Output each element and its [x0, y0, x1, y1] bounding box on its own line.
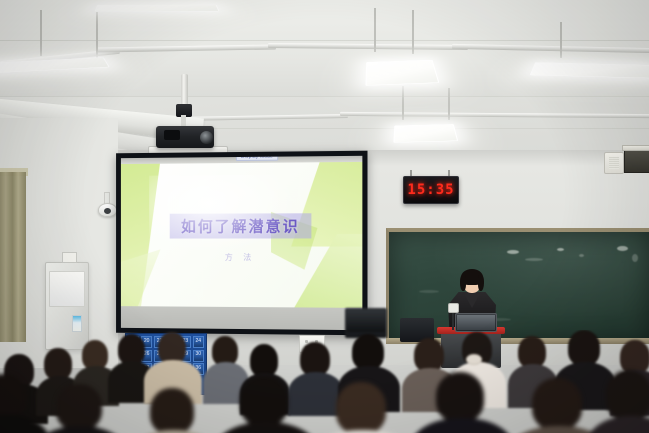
- display-mode-badge: Display Mode: [236, 156, 278, 161]
- lamp-hanger: [402, 86, 404, 120]
- window-curtain: [0, 172, 26, 342]
- lamp-hanger: [374, 8, 376, 52]
- lamp-hanger: [412, 10, 414, 54]
- ceiling-seam: [0, 96, 649, 97]
- projector-lens-icon: [200, 131, 213, 144]
- lamp-hanger: [40, 10, 42, 56]
- lamp-hanger: [96, 12, 98, 58]
- slide-title: 如何了解潜意识: [170, 214, 312, 239]
- screen-bottom-band: [121, 306, 362, 330]
- projection-screen: Display Mode 如何了解潜意识 方 法: [116, 151, 367, 336]
- ceiling-light-panel: [393, 124, 458, 143]
- presentation-slide: 如何了解潜意识 方 法: [121, 162, 362, 308]
- lamp-hanger: [560, 22, 562, 58]
- screen-surface: Display Mode 如何了解潜意识 方 法: [121, 156, 362, 330]
- lamp-hanger: [448, 88, 450, 120]
- audience: [0, 330, 649, 433]
- wall-ptz-camera-icon: [98, 203, 117, 217]
- classroom-photo: Display Mode 如何了解潜意识 方 法 15:35: [0, 0, 649, 433]
- projector-pole: [181, 74, 188, 108]
- slide-subtitle: 方 法: [121, 252, 362, 263]
- microphone-icon: [448, 303, 459, 313]
- ceiling-light-panel: [94, 5, 219, 12]
- wall-speaker-icon: [604, 152, 624, 174]
- ceiling-light-panel: [365, 60, 439, 86]
- presenter-hair: [478, 275, 484, 291]
- clock-time: 15:35: [407, 182, 454, 198]
- presenter-hair: [460, 275, 466, 291]
- wall-device-top: [622, 145, 649, 151]
- wall-plate: [62, 252, 77, 263]
- led-clock: 15:35: [403, 176, 459, 204]
